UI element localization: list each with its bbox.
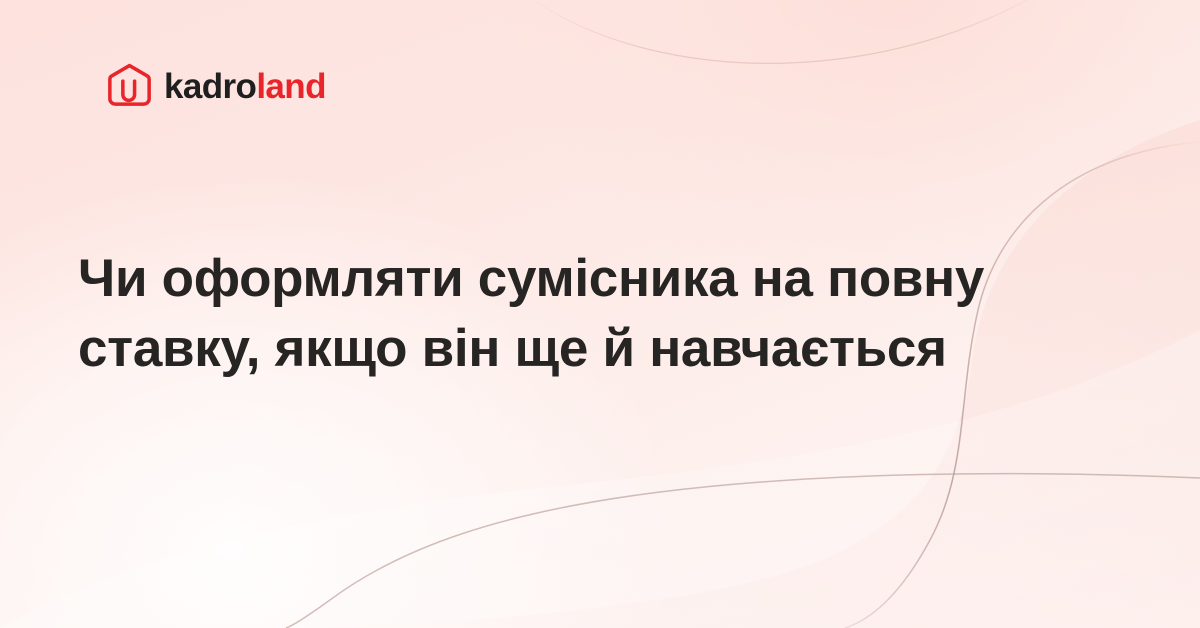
headline-line-2: ставку, якщо він ще й навчається <box>78 314 1028 384</box>
kadroland-house-logo-mark-icon <box>108 63 151 109</box>
wordmark-part-kadro: kadro <box>164 67 256 106</box>
og-card: kadroland Чи оформляти сумісника на повн… <box>0 0 1200 628</box>
headline: Чи оформляти сумісника на повну ставку, … <box>78 244 1028 385</box>
brand-wordmark: kadroland <box>164 69 326 104</box>
top-thin-arc <box>520 0 1060 63</box>
brand-logo[interactable]: kadroland <box>108 63 326 109</box>
headline-line-1: Чи оформляти сумісника на повну <box>78 244 1028 314</box>
wordmark-part-land: land <box>256 67 326 106</box>
